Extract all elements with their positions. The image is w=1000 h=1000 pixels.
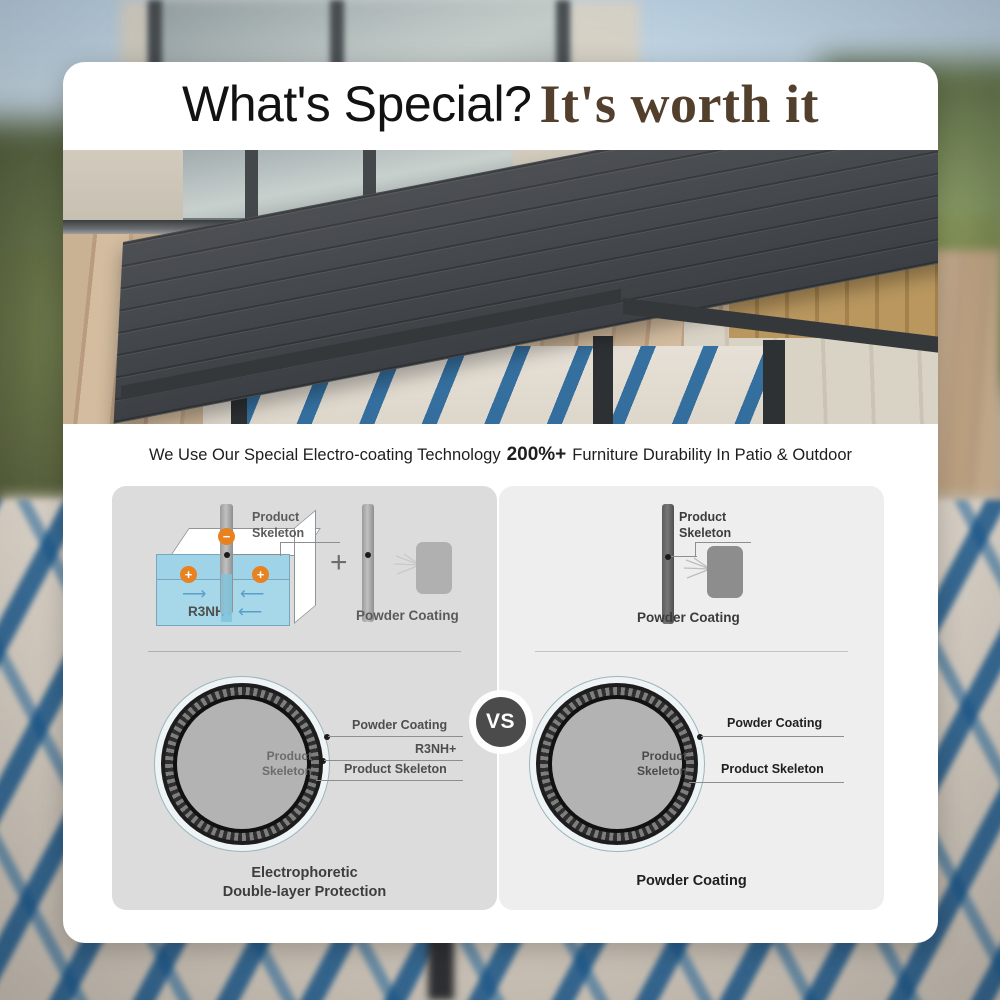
callout-line <box>280 542 281 556</box>
table-leg <box>593 336 613 424</box>
callout-line <box>689 782 844 783</box>
feature-subtitle: We Use Our Special Electro-coating Techn… <box>63 424 938 486</box>
ion-positive-icon: + <box>180 566 197 583</box>
ion-positive-icon: + <box>252 566 269 583</box>
table-leg <box>763 340 785 424</box>
flow-arrow-icon: ⟶ <box>182 584 206 604</box>
callout-line <box>701 736 844 737</box>
callout-dot <box>365 552 371 558</box>
callout-dot <box>320 758 326 764</box>
vs-badge: VS <box>476 697 526 747</box>
subtitle-lead: We Use Our Special Electro-coating Techn… <box>149 446 501 465</box>
callout-line <box>280 542 340 543</box>
hero-product-photo <box>63 150 938 424</box>
powder-sprayer-icon <box>707 546 743 598</box>
product-skeleton-label: Product Skeleton <box>679 510 731 541</box>
callout-powder-coating: Powder Coating <box>352 718 447 734</box>
page-title-primary: What's Special? <box>182 75 531 133</box>
subtitle-trail: Furniture Durability In Patio & Outdoor <box>572 446 852 465</box>
product-skeleton-rod <box>662 504 674 624</box>
plus-symbol: + <box>330 546 348 580</box>
callout-line <box>230 554 282 555</box>
callout-dot <box>665 554 671 560</box>
panel-electrophoretic: + + ⟶ ⟵ ⟵ R3NH+ − Product Skeleton + <box>112 486 497 910</box>
panel-caption-left: Electrophoretic Double-layer Protection <box>112 864 497 902</box>
callout-line <box>695 542 696 557</box>
callout-product-skeleton: Product Skeleton <box>344 762 447 778</box>
panel-caption-right: Powder Coating <box>499 872 884 891</box>
hero-door-mullion <box>245 150 258 226</box>
core-label: Product Skeleton <box>262 749 312 779</box>
card-header: What's Special? It's worth it <box>63 62 938 150</box>
ion-negative-icon: − <box>218 528 235 545</box>
core-label: Product Skeleton <box>637 749 687 779</box>
cross-section-electrophoretic: Product Skeleton <box>154 676 330 852</box>
callout-dot <box>224 552 230 558</box>
flow-arrow-icon: ⟵ <box>240 584 264 604</box>
callout-dot <box>324 734 330 740</box>
coating-rod <box>362 504 374 622</box>
feature-card: What's Special? It's worth it We Use Our… <box>63 62 938 943</box>
callout-line <box>695 542 751 543</box>
callout-product-skeleton: Product Skeleton <box>721 762 824 778</box>
powder-sprayer-icon <box>416 542 452 594</box>
powder-coating-label: Powder Coating <box>637 610 740 627</box>
panel-powder-coating: Product Skeleton Powder Coating Product … <box>499 486 884 910</box>
callout-line <box>316 780 463 781</box>
page-title-accent: It's worth it <box>539 73 818 135</box>
subtitle-highlight: 200%+ <box>504 444 570 466</box>
callout-line <box>328 736 463 737</box>
product-skeleton-label: Product Skeleton <box>252 510 304 541</box>
callout-powder-coating: Powder Coating <box>727 716 822 732</box>
callout-r3nh: R3NH+ <box>415 742 456 758</box>
powder-coating-label: Powder Coating <box>356 608 459 625</box>
flow-arrow-icon: ⟵ <box>238 602 262 622</box>
callout-dot <box>697 734 703 740</box>
callout-line <box>324 760 463 761</box>
rod-submerged-part <box>221 574 232 622</box>
cross-section-powder-coating: Product Skeleton <box>529 676 705 852</box>
